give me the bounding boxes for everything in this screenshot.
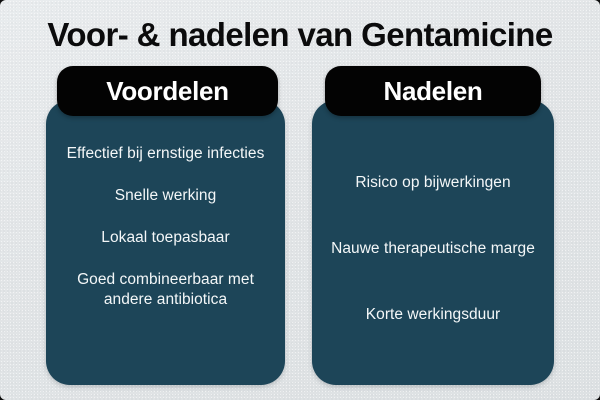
pros-heading-label: Voordelen: [106, 76, 229, 107]
pros-heading-pill: Voordelen: [57, 66, 278, 116]
cons-heading-pill: Nadelen: [325, 66, 541, 116]
pros-item: Goed combineerbaar met andere antibiotic…: [60, 270, 271, 310]
pros-item: Snelle werking: [60, 186, 271, 206]
cons-item: Risico op bijwerkingen: [326, 173, 540, 193]
pros-item: Lokaal toepasbaar: [60, 228, 271, 248]
cons-heading-label: Nadelen: [383, 76, 482, 107]
pros-card: Effectief bij ernstige infecties Snelle …: [46, 100, 285, 385]
cons-item-list: Risico op bijwerkingen Nauwe therapeutis…: [312, 138, 554, 369]
pros-item: Effectief bij ernstige infecties: [60, 144, 271, 164]
pros-item-list: Effectief bij ernstige infecties Snelle …: [46, 138, 285, 369]
cons-item: Nauwe therapeutische marge: [326, 239, 540, 259]
infographic-canvas: Voor- & nadelen van Gentamicine Effectie…: [0, 0, 600, 400]
page-title: Voor- & nadelen van Gentamicine: [0, 16, 600, 54]
cons-item: Korte werkingsduur: [326, 305, 540, 325]
cons-card: Risico op bijwerkingen Nauwe therapeutis…: [312, 100, 554, 385]
